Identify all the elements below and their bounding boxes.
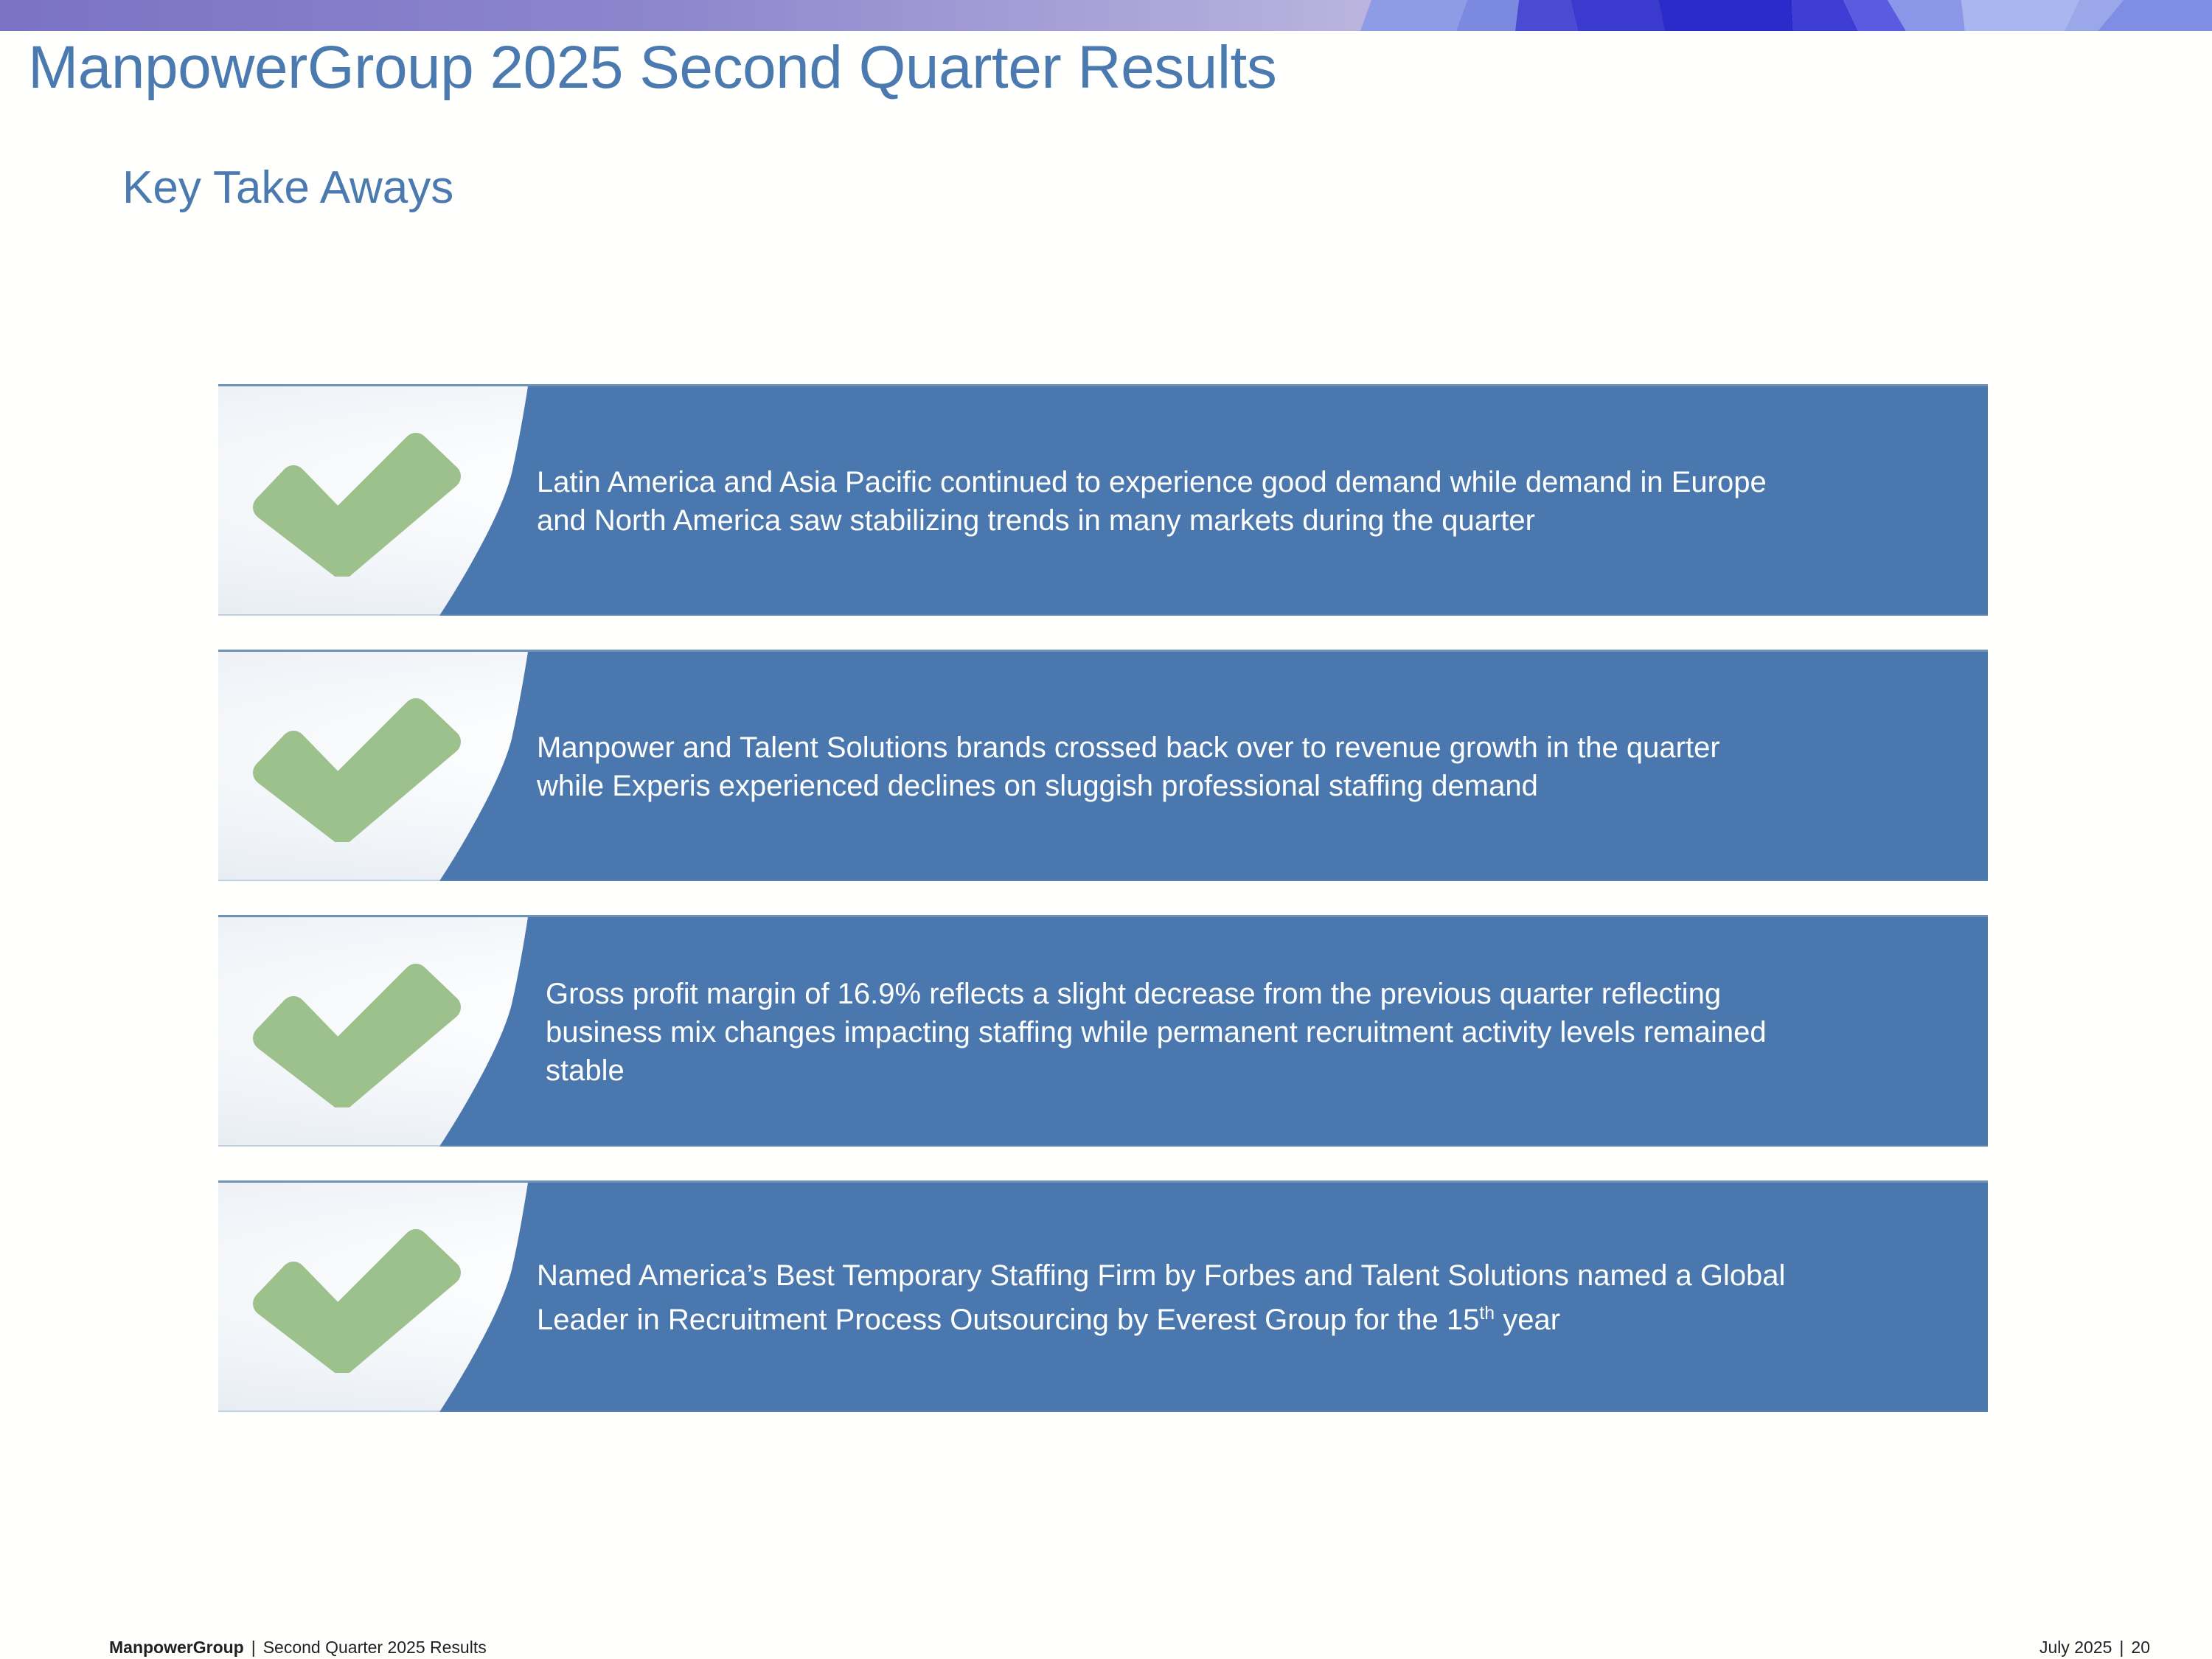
takeaway-text: Manpower and Talent Solutions brands cro… [537, 728, 1790, 805]
footer-left: ManpowerGroup|Second Quarter 2025 Result… [109, 1638, 487, 1658]
page-subtitle: Key Take Aways [122, 161, 453, 215]
takeaway-text-tail: year [1495, 1304, 1560, 1336]
footer-separator: | [2112, 1638, 2131, 1657]
takeaway-card: Named America’s Best Temporary Staffing … [218, 1180, 1988, 1412]
decorative-banner [0, 0, 2212, 31]
footer-date: July 2025 [2039, 1638, 2112, 1657]
check-icon [248, 429, 469, 577]
takeaway-card: Latin America and Asia Pacific continued… [218, 384, 1988, 616]
card-bottom-edge [218, 1411, 1988, 1412]
key-takeaways-list: Latin America and Asia Pacific continued… [218, 384, 1988, 1446]
takeaway-text: Latin America and Asia Pacific continued… [537, 463, 1790, 540]
takeaway-text: Named America’s Best Temporary Staffing … [537, 1256, 1790, 1338]
page-number: 20 [2131, 1638, 2150, 1657]
footer-company: ManpowerGroup [109, 1638, 244, 1657]
ordinal-suffix: th [1479, 1303, 1495, 1323]
takeaway-card: Manpower and Talent Solutions brands cro… [218, 650, 1988, 881]
takeaway-text-main: Named America’s Best Temporary Staffing … [537, 1259, 1785, 1335]
takeaway-card: Gross profit margin of 16.9% reflects a … [218, 915, 1988, 1147]
check-icon [248, 695, 469, 842]
card-bottom-edge [218, 614, 1988, 616]
check-icon [248, 960, 469, 1107]
card-bottom-edge [218, 880, 1988, 881]
takeaway-text: Gross profit margin of 16.9% reflects a … [546, 975, 1799, 1090]
card-bottom-edge [218, 1145, 1988, 1147]
footer-deck-name: Second Quarter 2025 Results [263, 1638, 487, 1657]
footer-right: July 2025|20 [2039, 1638, 2150, 1658]
check-icon [248, 1225, 469, 1373]
footer-separator: | [244, 1638, 263, 1657]
page-title: ManpowerGroup 2025 Second Quarter Result… [28, 31, 1945, 105]
